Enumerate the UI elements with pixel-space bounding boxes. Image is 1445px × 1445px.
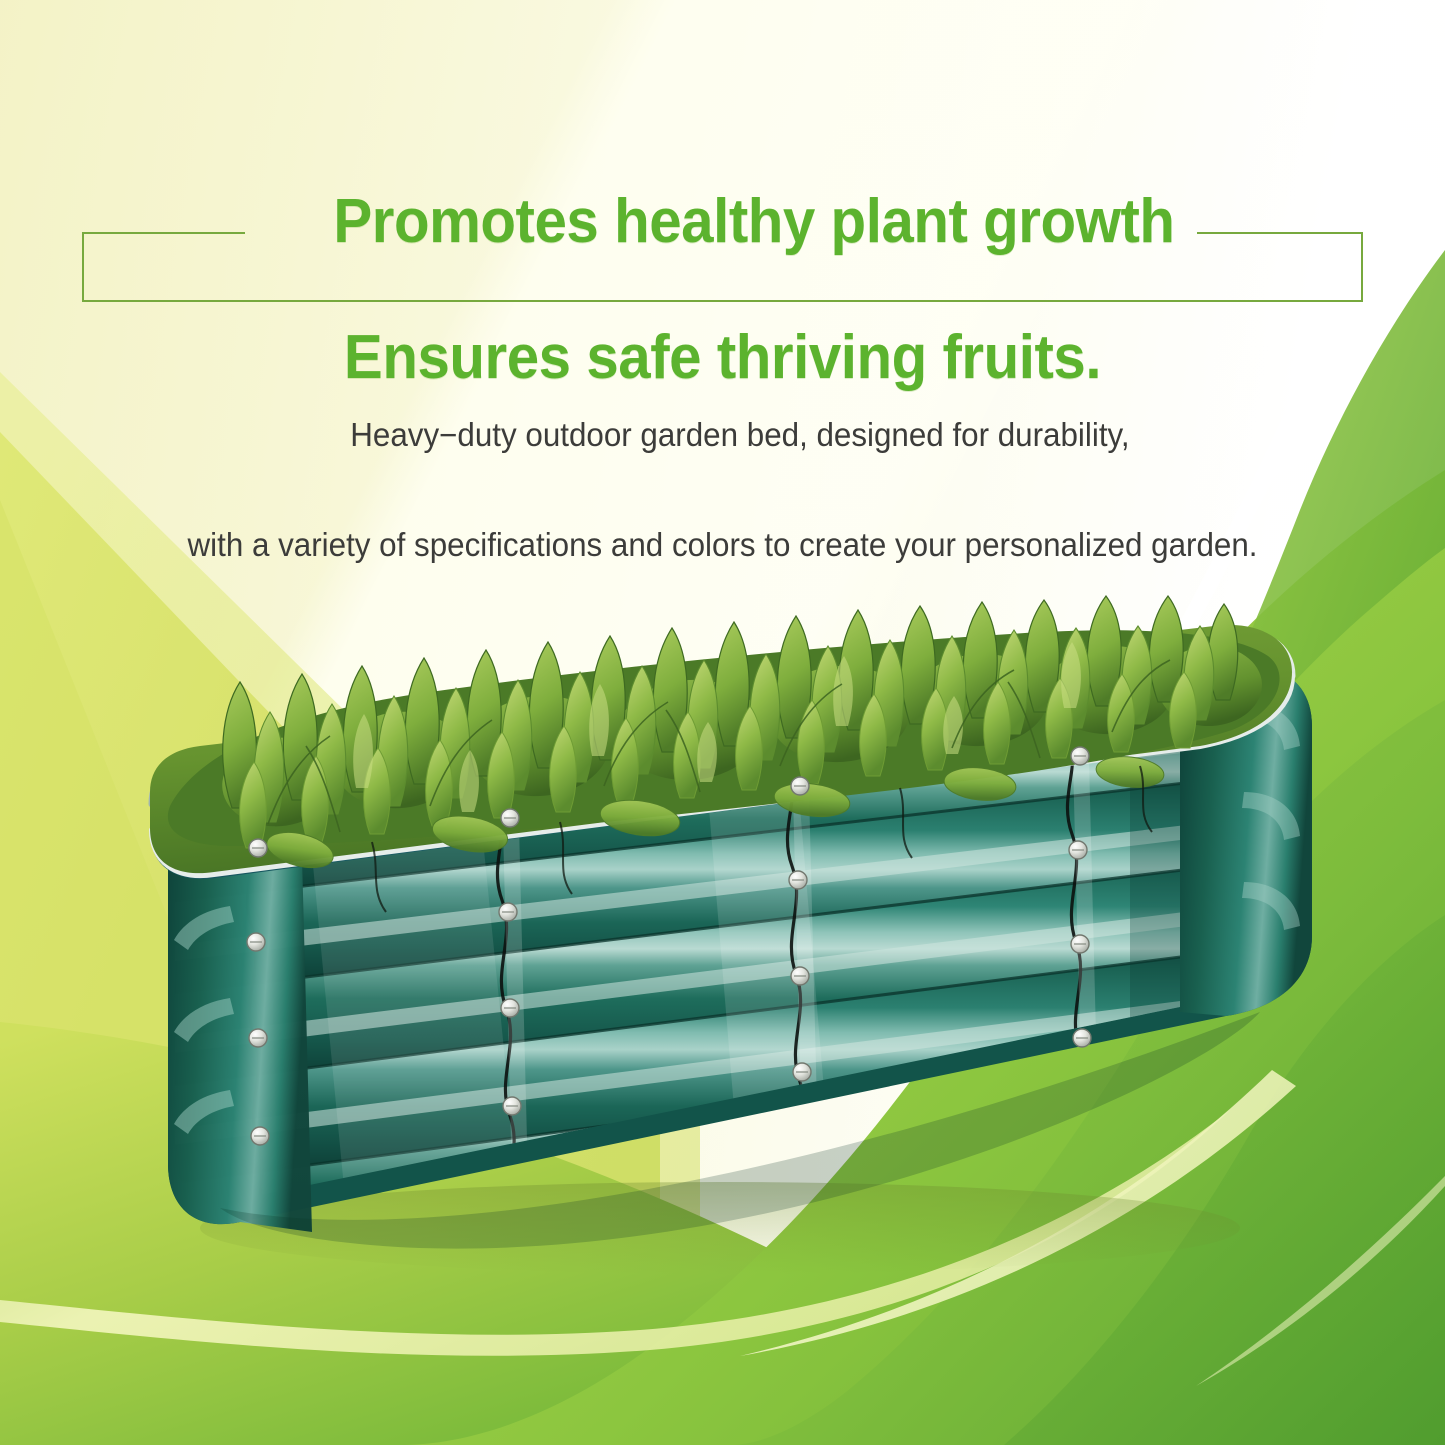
subtitle-line-2: with a variety of specifications and col… [36,517,1409,572]
subtitle: Heavy−duty outdoor garden bed, designed … [36,352,1409,682]
subtitle-line-1: Heavy−duty outdoor garden bed, designed … [350,416,1129,453]
headline-line-1: Promotes healthy plant growth [333,187,1174,256]
banner-canvas: Promotes healthy plant growth Ensures sa… [0,0,1445,1445]
